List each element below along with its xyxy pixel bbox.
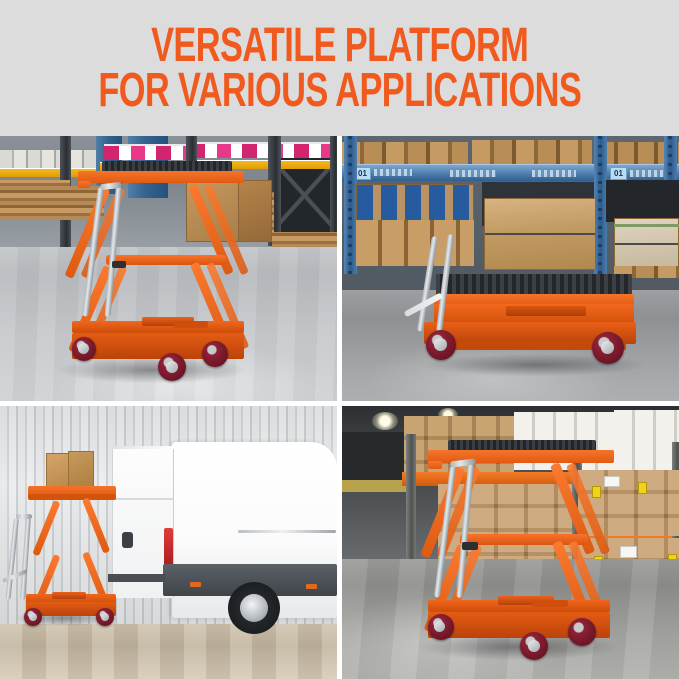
hydraulic-cylinder	[52, 592, 86, 599]
photo-workshop	[0, 406, 337, 679]
photo-warehouses	[342, 406, 679, 679]
caster-hub	[434, 621, 445, 632]
application-photo-grid: Supermarkets 01 01	[0, 136, 679, 679]
shelf-cartons-pink	[104, 144, 190, 160]
van-reflector	[306, 584, 317, 589]
push-handle-right	[20, 516, 31, 600]
panel-factories[interactable]: 01 01	[342, 136, 679, 401]
box-label-yellow	[638, 482, 647, 494]
push-handle-left	[5, 518, 19, 600]
beam-perforation	[532, 170, 576, 177]
scissor-lift-table	[414, 438, 624, 653]
shelf-cartons-pink	[190, 142, 337, 158]
caster-wheel	[202, 341, 228, 367]
cardboard-box	[46, 453, 69, 488]
van-door-seam	[112, 498, 174, 500]
scissor-lift-table	[420, 236, 650, 376]
ceiling-lamp	[372, 412, 398, 430]
van-door-handle[interactable]	[122, 532, 133, 548]
pallet-stack-top	[472, 140, 592, 166]
platform-frame	[78, 171, 244, 183]
scissor-lift-table	[56, 161, 256, 376]
caster-hub	[29, 613, 37, 621]
scissor-arm	[82, 497, 110, 553]
pump-lever	[462, 542, 478, 550]
hydraulic-ram	[532, 600, 568, 607]
caster-wheel	[568, 618, 596, 646]
wooden-floor	[0, 624, 337, 679]
rack-bay-shadow	[606, 180, 679, 222]
cardboard-box	[68, 451, 94, 488]
crate-strap	[614, 224, 679, 227]
beam-perforation	[374, 169, 412, 176]
stacked-pallets	[272, 232, 337, 248]
caster-hub	[528, 640, 540, 652]
hydraulic-ram	[174, 321, 208, 328]
photo-supermarkets	[0, 136, 337, 401]
van-side-trim	[238, 530, 336, 533]
panel-supermarkets[interactable]: Supermarkets	[0, 136, 337, 401]
platform-rubber-mat	[436, 274, 632, 296]
caster-hub	[601, 341, 614, 354]
platform-edge	[78, 181, 90, 188]
caster-hub	[166, 361, 178, 373]
van-wheel-rim	[240, 594, 268, 622]
rack-label-01: 01	[610, 167, 627, 180]
pump-lever	[112, 261, 126, 268]
caster-hub	[101, 613, 109, 621]
photo-factories: 01 01	[342, 136, 679, 401]
van-reflector	[190, 582, 201, 587]
caster-hub	[434, 338, 447, 351]
panel-warehouses[interactable]: Warehouses	[342, 406, 679, 679]
van-roof-edge	[112, 446, 176, 449]
pallet-blue-wrapped	[356, 184, 474, 224]
handle-grip	[16, 514, 32, 519]
platform-edge	[28, 494, 116, 500]
hydraulic-cylinder	[506, 306, 586, 316]
platform-edge	[428, 461, 442, 469]
scissor-arm	[32, 500, 60, 556]
page-title-line-2: FOR VARIOUS APPLICATIONS	[98, 65, 581, 116]
beam-perforation	[450, 170, 496, 177]
header-banner: VERSATILE PLATFORM FOR VARIOUS APPLICATI…	[0, 0, 679, 136]
caster-hub	[78, 343, 89, 354]
scissor-lift-table	[8, 486, 120, 626]
pallet-stack-top	[342, 142, 468, 166]
panel-workshop[interactable]: Workshop	[0, 406, 337, 679]
